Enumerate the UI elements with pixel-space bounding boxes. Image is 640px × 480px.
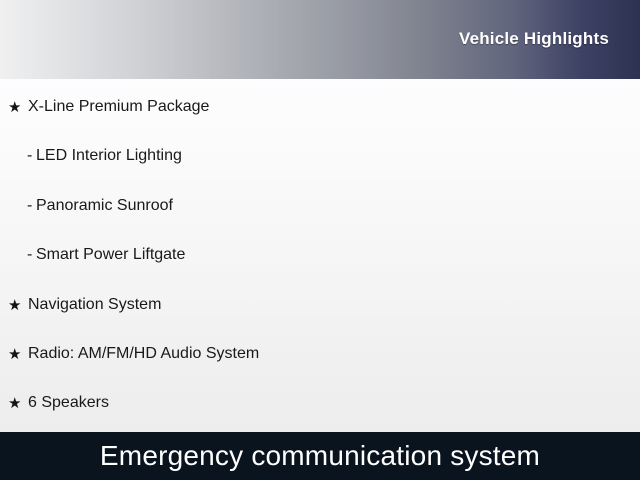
dash-icon: - <box>27 148 36 164</box>
list-item: ★ Navigation System <box>0 291 640 319</box>
list-item-label: LED Interior Lighting <box>36 148 182 164</box>
feature-list: ★ X-Line Premium Package - LED Interior … <box>0 79 640 432</box>
header-banner: Vehicle Highlights <box>0 0 640 79</box>
list-item: - Smart Power Liftgate <box>0 241 640 269</box>
star-icon: ★ <box>8 100 28 115</box>
vehicle-highlights-slide: Vehicle Highlights ★ X-Line Premium Pack… <box>0 0 640 480</box>
list-item: ★ 6 Speakers <box>0 389 640 417</box>
star-icon: ★ <box>8 396 28 411</box>
list-item-label: Panoramic Sunroof <box>36 198 173 214</box>
star-icon: ★ <box>8 298 28 313</box>
list-item-label: Smart Power Liftgate <box>36 247 185 263</box>
list-item: ★ X-Line Premium Package <box>0 93 640 121</box>
list-item-label: 6 Speakers <box>28 395 109 411</box>
page-title: Vehicle Highlights <box>459 29 609 49</box>
footer-caption: Emergency communication system <box>100 440 540 472</box>
list-item: ★ Radio: AM/FM/HD Audio System <box>0 340 640 368</box>
dash-icon: - <box>27 198 36 214</box>
footer-banner: Emergency communication system <box>0 432 640 480</box>
list-item-label: Radio: AM/FM/HD Audio System <box>28 346 259 362</box>
dash-icon: - <box>27 247 36 263</box>
list-item: - LED Interior Lighting <box>0 142 640 170</box>
list-item-label: X-Line Premium Package <box>28 99 209 115</box>
list-item: - Panoramic Sunroof <box>0 192 640 220</box>
list-item-label: Navigation System <box>28 297 161 313</box>
star-icon: ★ <box>8 347 28 362</box>
